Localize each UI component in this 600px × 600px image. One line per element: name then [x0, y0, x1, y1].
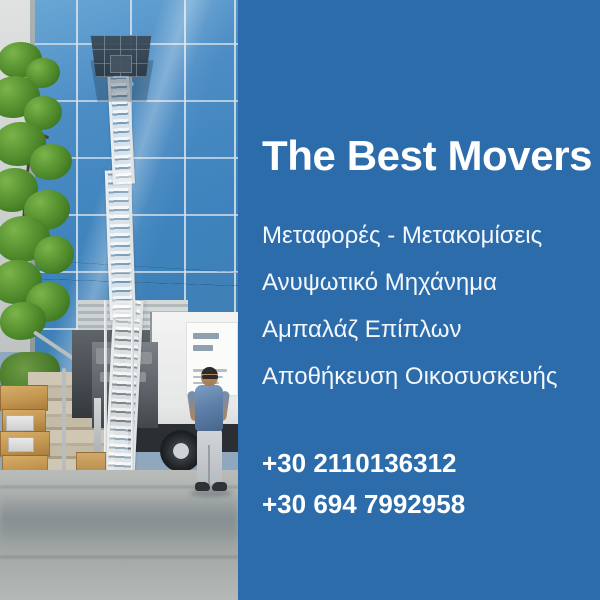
- ladder-rail-right: [131, 300, 134, 486]
- worker-shoe-left: [195, 482, 210, 491]
- sunglasses-icon: [202, 375, 218, 379]
- company-title: The Best Movers: [262, 132, 592, 180]
- phone-number[interactable]: +30 2110136312: [262, 443, 598, 484]
- service-item: Αποθήκευση Οικοσυσκευής: [262, 353, 598, 400]
- service-item: Αμπαλάζ Επίπλων: [262, 306, 598, 353]
- hero-photo: [0, 0, 238, 600]
- service-item: Μεταφορές - Μετακομίσεις: [262, 212, 598, 259]
- promo-card: The Best Movers Μεταφορές - Μετακομίσεις…: [0, 0, 600, 600]
- tree: [0, 40, 100, 340]
- worker-shoe-right: [212, 482, 227, 491]
- worker-tshirt: [195, 385, 223, 431]
- basket-hinge: [110, 55, 132, 73]
- phone-list: +30 2110136312 +30 694 7992958: [262, 443, 598, 525]
- services-list: Μεταφορές - Μετακομίσεις Ανυψωτικό Μηχάν…: [262, 212, 598, 400]
- phone-number[interactable]: +30 694 7992958: [262, 484, 598, 525]
- pavement-wet-patch: [0, 492, 238, 550]
- telescopic-ladder-mid: [105, 170, 136, 321]
- info-panel: The Best Movers Μεταφορές - Μετακομίσεις…: [238, 0, 600, 600]
- handrail-post-a: [62, 368, 66, 480]
- service-item: Ανυψωτικό Μηχάνημα: [262, 259, 598, 306]
- worker-person: [188, 367, 228, 497]
